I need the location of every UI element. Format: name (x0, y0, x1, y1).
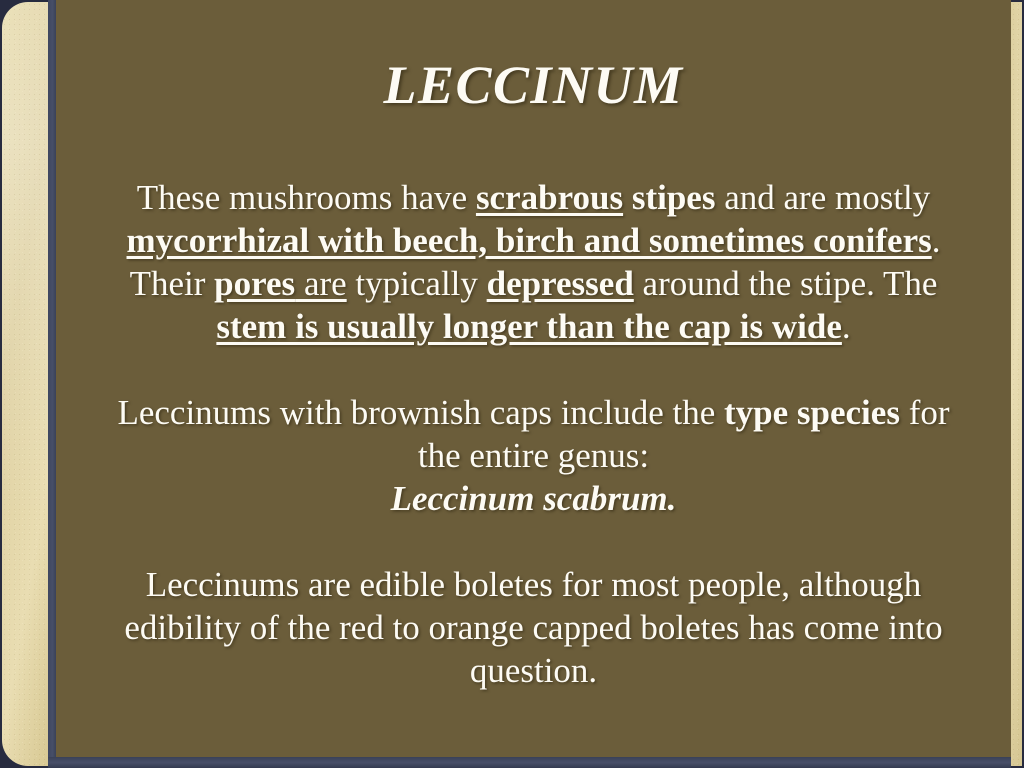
text-run-mycorrhizal: mycorrhizal with beech, birch and someti… (127, 221, 932, 260)
text-run: around the stipe. The (634, 264, 938, 303)
text-run: . (932, 221, 941, 260)
text-run: for (900, 393, 950, 432)
text-run-scrabrous: scrabrous (476, 178, 623, 217)
paragraph-edibility: Leccinums are edible boletes for most pe… (56, 563, 1011, 692)
slide-content-panel: LECCINUM These mushrooms have scrabrous … (56, 0, 1011, 757)
text-run: Their (130, 264, 215, 303)
text-run-type-species: type species (724, 393, 900, 432)
text-run: and are mostly (715, 178, 930, 217)
text-run: edibility of the red to orange capped bo… (124, 608, 942, 647)
paragraph-description: These mushrooms have scrabrous stipes an… (56, 176, 1011, 348)
right-decorative-band (1011, 2, 1022, 766)
text-run: Leccinums are edible boletes for most pe… (146, 565, 922, 604)
text-run-stipes: stipes (632, 178, 716, 217)
text-run: question. (470, 651, 597, 690)
text-run: typically (347, 264, 487, 303)
paragraph-type-species: Leccinums with brownish caps include the… (56, 391, 1011, 520)
paragraph-spacer (56, 348, 1011, 391)
text-run-depressed: depressed (487, 264, 634, 303)
slide-title: LECCINUM (56, 54, 1011, 116)
presentation-slide: LECCINUM These mushrooms have scrabrous … (0, 0, 1024, 768)
text-run: the entire genus: (418, 436, 649, 475)
slide-body: These mushrooms have scrabrous stipes an… (56, 176, 1011, 692)
text-run-pores: pores (214, 264, 295, 303)
text-run: These mushrooms have (137, 178, 476, 217)
bottom-divider-rule (48, 757, 1011, 768)
text-run-species-name: Leccinum scabrum (391, 479, 668, 518)
text-run-stem-longer: stem is usually longer than the cap is w… (216, 307, 842, 346)
paragraph-spacer (56, 520, 1011, 563)
text-run: . (668, 479, 677, 518)
left-decorative-band (2, 2, 48, 766)
left-divider-rule (48, 0, 56, 768)
text-run-space (623, 178, 632, 217)
text-run: . (842, 307, 851, 346)
text-run: Leccinums with brownish caps include the (117, 393, 724, 432)
text-run-are: are (295, 264, 346, 303)
